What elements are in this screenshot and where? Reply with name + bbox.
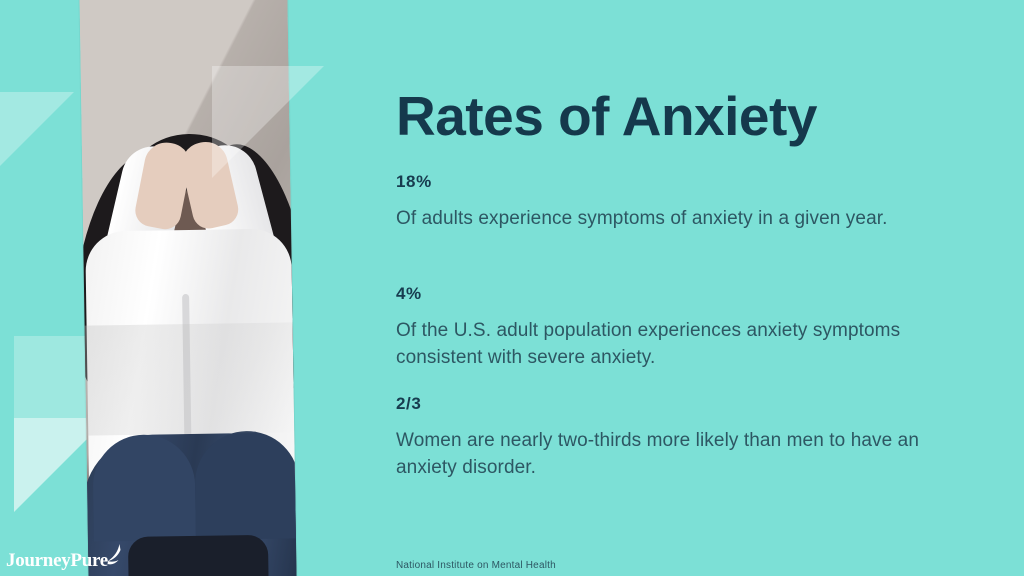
stat-label: 18%	[396, 172, 936, 192]
stat-block: 4% Of the U.S. adult population experien…	[396, 284, 936, 372]
journeypure-logo: JourneyPure	[6, 548, 126, 570]
logo-wordmark: JourneyPure	[6, 551, 108, 570]
stat-label: 2/3	[396, 394, 936, 414]
photo-detail-knee-right	[194, 430, 296, 540]
swoosh-icon	[106, 544, 122, 566]
content-column: Rates of Anxiety 18% Of adults experienc…	[396, 0, 956, 576]
source-footnote: National Institute on Mental Health	[396, 560, 556, 571]
page-title: Rates of Anxiety	[396, 88, 817, 146]
photo-anxiety-woman	[79, 0, 296, 576]
photo-detail-knee-left	[92, 434, 196, 542]
stat-description: Of adults experience symptoms of anxiety…	[396, 206, 936, 233]
slide: Rates of Anxiety 18% Of adults experienc…	[0, 0, 1024, 576]
stat-block: 18% Of adults experience symptoms of anx…	[396, 172, 936, 233]
photo-detail-feet	[128, 535, 269, 576]
photo-image	[79, 0, 296, 576]
stat-description: Women are nearly two-thirds more likely …	[396, 428, 936, 482]
stat-description: Of the U.S. adult population experiences…	[396, 318, 936, 372]
stat-label: 4%	[396, 284, 936, 304]
stat-block: 2/3 Women are nearly two-thirds more lik…	[396, 394, 936, 482]
decorative-triangle-upper-left	[0, 92, 74, 172]
